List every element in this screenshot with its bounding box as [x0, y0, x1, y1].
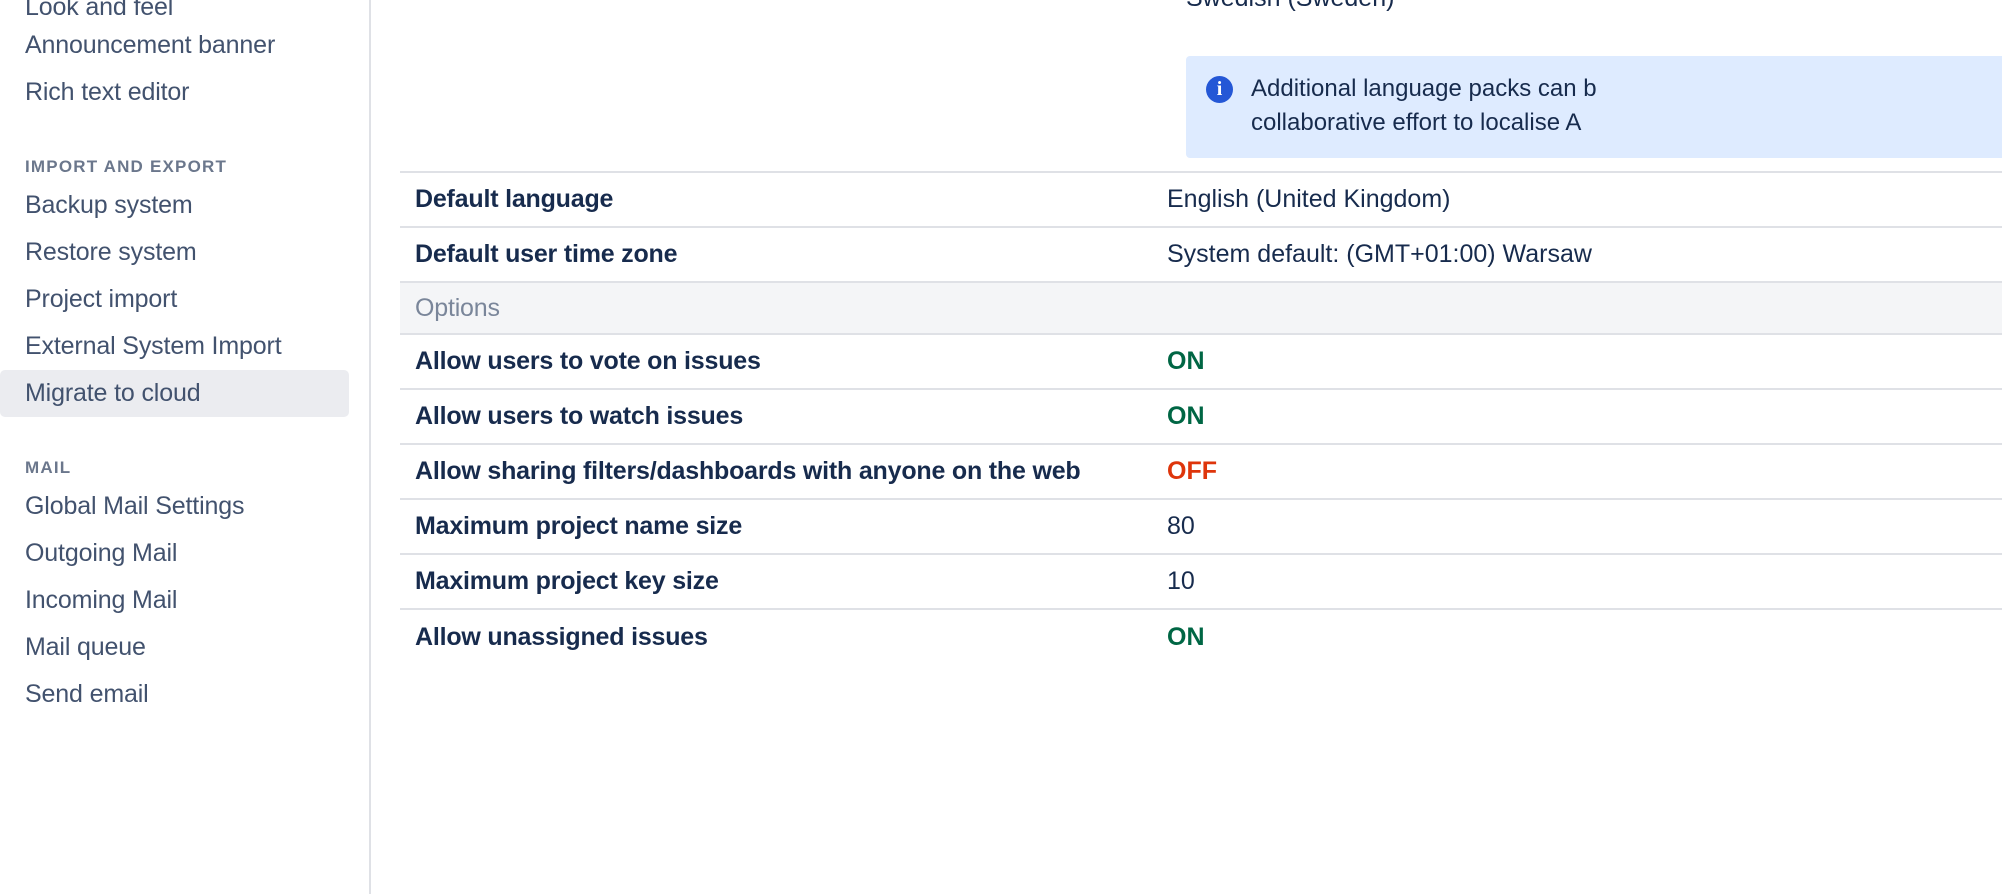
- sidebar-item-migrate-to-cloud[interactable]: Migrate to cloud: [0, 370, 349, 417]
- settings-row: Maximum project key size10: [400, 554, 2002, 609]
- setting-label: Allow unassigned issues: [400, 609, 1157, 664]
- sidebar-item-send-email[interactable]: Send email: [0, 671, 349, 718]
- status-badge: ON: [1167, 402, 1205, 430]
- info-banner-line-2: collaborative effort to localise A: [1251, 106, 1597, 140]
- sidebar-item-outgoing-mail[interactable]: Outgoing Mail: [0, 530, 349, 577]
- sidebar-item-rich-text-editor[interactable]: Rich text editor: [0, 69, 349, 116]
- settings-row: Maximum project name size80: [400, 499, 2002, 554]
- setting-label: Maximum project name size: [400, 499, 1157, 554]
- sidebar-item-external-system-import[interactable]: External System Import: [0, 323, 349, 370]
- settings-row: Default languageEnglish (United Kingdom): [400, 172, 2002, 227]
- setting-value: ON: [1157, 389, 2002, 444]
- info-banner-line-1: Additional language packs can b: [1251, 72, 1597, 106]
- status-badge: OFF: [1167, 457, 1217, 485]
- settings-row: Default user time zoneSystem default: (G…: [400, 227, 2002, 282]
- sidebar-section-title-mail: MAIL: [0, 453, 369, 483]
- setting-value: ON: [1157, 334, 2002, 389]
- settings-row: Allow users to watch issuesON: [400, 389, 2002, 444]
- setting-value: OFF: [1157, 444, 2002, 499]
- section-heading: Options: [400, 282, 1157, 334]
- main-inner: Swedish (Sweden) i Additional language p…: [371, 0, 2002, 664]
- settings-row: Allow users to vote on issuesON: [400, 334, 2002, 389]
- setting-label: Default user time zone: [400, 227, 1157, 282]
- setting-value: System default: (GMT+01:00) Warsaw: [1157, 227, 2002, 282]
- setting-value: English (United Kingdom): [1157, 172, 2002, 227]
- sidebar-item-incoming-mail[interactable]: Incoming Mail: [0, 577, 349, 624]
- setting-value-text: 10: [1167, 567, 1195, 595]
- sidebar-item-mail-queue[interactable]: Mail queue: [0, 624, 349, 671]
- setting-label: Allow users to watch issues: [400, 389, 1157, 444]
- sidebar-section-title-import-and-export: IMPORT AND EXPORT: [0, 152, 369, 182]
- setting-label: Allow sharing filters/dashboards with an…: [400, 444, 1157, 499]
- status-badge: ON: [1167, 623, 1205, 651]
- sidebar-group-spacer: [0, 417, 369, 453]
- admin-sidebar: Look and feelAnnouncement bannerRich tex…: [0, 0, 371, 894]
- settings-row: Allow unassigned issuesON: [400, 609, 2002, 664]
- settings-section-row: Options: [400, 282, 2002, 334]
- settings-page: Look and feelAnnouncement bannerRich tex…: [0, 0, 2002, 894]
- setting-value: 80: [1157, 499, 2002, 554]
- sidebar-group-spacer: [0, 116, 369, 152]
- setting-value-text: 80: [1167, 512, 1195, 540]
- setting-value-text: System default: (GMT+01:00) Warsaw: [1167, 240, 1592, 268]
- setting-value: [1157, 282, 2002, 334]
- setting-value: ON: [1157, 609, 2002, 664]
- settings-table: Default languageEnglish (United Kingdom)…: [400, 171, 2002, 664]
- setting-label: Default language: [400, 172, 1157, 227]
- setting-label: Maximum project key size: [400, 554, 1157, 609]
- sidebar-item-backup-system[interactable]: Backup system: [0, 182, 349, 229]
- info-banner-text: Additional language packs can b collabor…: [1251, 72, 1597, 140]
- partial-language-value: Swedish (Sweden): [1186, 0, 1394, 13]
- sidebar-item-project-import[interactable]: Project import: [0, 276, 349, 323]
- setting-value: 10: [1157, 554, 2002, 609]
- info-banner: i Additional language packs can b collab…: [1186, 56, 2002, 158]
- main-content: Swedish (Sweden) i Additional language p…: [371, 0, 2002, 894]
- sidebar-item-announcement-banner[interactable]: Announcement banner: [0, 22, 349, 69]
- info-icon: i: [1206, 76, 1233, 103]
- setting-value-text: English (United Kingdom): [1167, 185, 1450, 213]
- sidebar-item-restore-system[interactable]: Restore system: [0, 229, 349, 276]
- sidebar-item-look-and-feel-partial[interactable]: Look and feel: [0, 0, 349, 22]
- status-badge: ON: [1167, 347, 1205, 375]
- setting-label: Allow users to vote on issues: [400, 334, 1157, 389]
- settings-row: Allow sharing filters/dashboards with an…: [400, 444, 2002, 499]
- top-zone: Swedish (Sweden) i Additional language p…: [400, 0, 2002, 171]
- sidebar-nav-list: Look and feelAnnouncement bannerRich tex…: [0, 0, 369, 718]
- settings-table-body: Default languageEnglish (United Kingdom)…: [400, 172, 2002, 664]
- sidebar-item-global-mail-settings[interactable]: Global Mail Settings: [0, 483, 349, 530]
